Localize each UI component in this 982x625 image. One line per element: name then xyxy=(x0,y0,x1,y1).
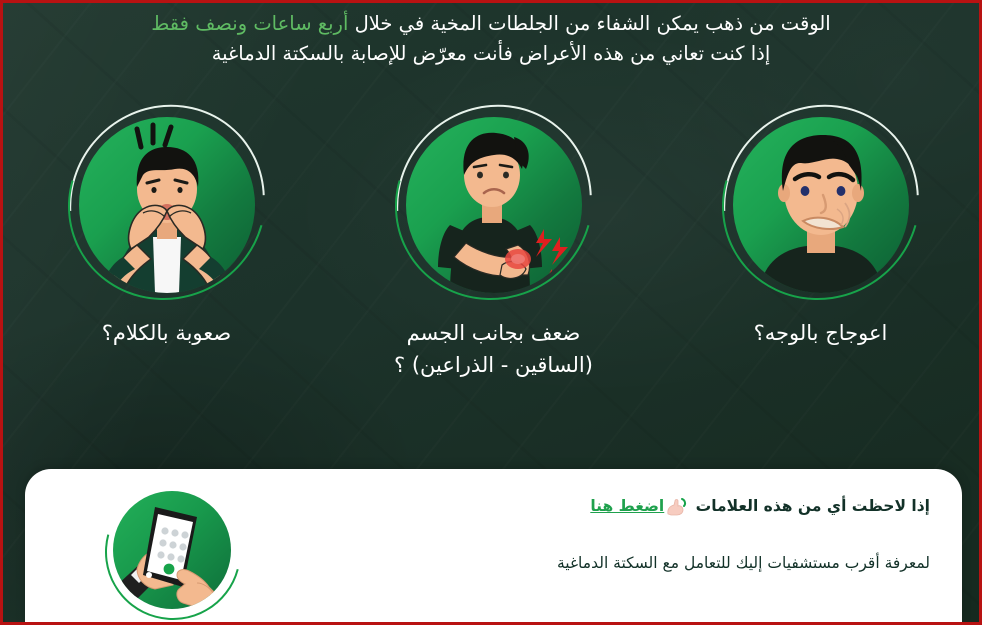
drooping-face-illustration xyxy=(733,117,909,293)
symptom-label-weakness: ضعف بجانب الجسم (الساقين - الذراعين) ؟ xyxy=(330,317,657,381)
cta-text-block: إذا لاحظت أي من هذه العلامات اضغط هنا لم… xyxy=(290,495,930,574)
call-to-action-card: إذا لاحظت أي من هذه العلامات اضغط هنا لم… xyxy=(25,469,962,622)
symptom-card-weakness: ضعف بجانب الجسم (الساقين - الذراعين) ؟ xyxy=(330,107,657,381)
symptom-label-speech-line1: صعوبة بالكلام؟ xyxy=(3,317,330,349)
symptom-card-face: اعوجاج بالوجه؟ xyxy=(657,107,982,349)
header-line-2: إذا كنت تعاني من هذه الأعراض فأنت معرّض … xyxy=(3,39,979,69)
cta-line-1-text: إذا لاحظت أي من هذه العلامات xyxy=(690,497,930,515)
infographic-frame: الوقت من ذهب يمكن الشفاء من الجلطات المخ… xyxy=(0,0,982,625)
cta-line-2: لمعرفة أقرب مستشفيات إليك للتعامل مع الس… xyxy=(290,552,930,574)
phone-illustration-wrap xyxy=(103,491,243,609)
pointing-hand-icon xyxy=(666,496,688,522)
person-hands-over-mouth-illustration xyxy=(79,117,255,293)
symptom-illustration-face xyxy=(721,107,921,299)
symptom-label-speech: صعوبة بالكلام؟ xyxy=(3,317,330,349)
header: الوقت من ذهب يمكن الشفاء من الجلطات المخ… xyxy=(3,9,979,69)
header-line-1-text: الوقت من ذهب يمكن الشفاء من الجلطات المخ… xyxy=(348,12,830,35)
header-highlight-time: أربع ساعات ونصف فقط xyxy=(151,12,348,35)
symptom-illustration-weakness xyxy=(394,107,594,299)
symptom-label-face-line1: اعوجاج بالوجه؟ xyxy=(657,317,982,349)
click-here-link[interactable]: اضغط هنا xyxy=(590,497,664,515)
symptom-illustration-speech xyxy=(67,107,267,299)
cta-line-1: إذا لاحظت أي من هذه العلامات اضغط هنا xyxy=(290,495,930,522)
symptom-label-weakness-line1: ضعف بجانب الجسم xyxy=(330,317,657,349)
hand-holding-phone-dialpad-illustration xyxy=(113,491,231,609)
symptom-card-speech: صعوبة بالكلام؟ xyxy=(3,107,330,349)
person-holding-painful-arm-illustration xyxy=(406,117,582,293)
symptom-label-face: اعوجاج بالوجه؟ xyxy=(657,317,982,349)
symptoms-row: صعوبة بالكلام؟ xyxy=(3,107,979,437)
header-line-1: الوقت من ذهب يمكن الشفاء من الجلطات المخ… xyxy=(3,9,979,39)
symptom-label-weakness-line2: (الساقين - الذراعين) ؟ xyxy=(330,349,657,381)
